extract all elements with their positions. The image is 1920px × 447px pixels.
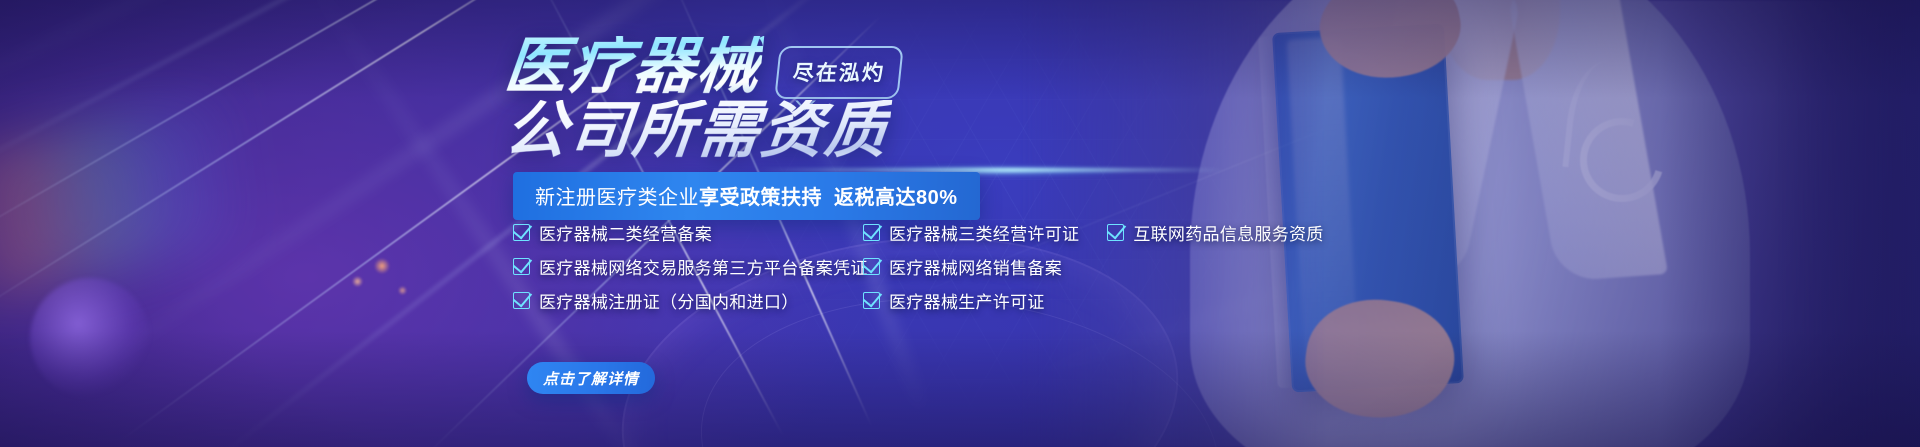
rainbow-glow <box>0 81 293 309</box>
promo-text-part3: 返税高达80% <box>834 187 958 209</box>
checklist-item: 医疗器械网络销售备案 <box>863 254 1358 279</box>
checklist-item-label: 医疗器械三类经营许可证 <box>889 220 1079 245</box>
checkbox-checked-icon <box>513 292 530 309</box>
learn-more-button[interactable]: 点击了解详情 <box>527 362 655 394</box>
checklist-item-label: 医疗器械二类经营备案 <box>539 220 712 245</box>
banner-content: 医疗器械 尽在泓灼 公司所需资质 新注册医疗类企业享受政策扶持返税高达80% 医… <box>505 0 1405 447</box>
orange-spark-3 <box>398 286 407 295</box>
headline-line-1: 医疗器械 <box>502 36 765 98</box>
checklist-item: 医疗器械二类经营备案 <box>513 220 863 245</box>
checklist-item: 医疗器械生产许可证 <box>863 288 1358 313</box>
checkbox-checked-icon <box>513 258 530 275</box>
promo-strip: 新注册医疗类企业享受政策扶持返税高达80% <box>513 172 980 220</box>
checkbox-checked-icon <box>863 258 880 275</box>
headline-row: 医疗器械 尽在泓灼 <box>505 36 901 99</box>
checklist-item: 医疗器械网络交易服务第三方平台备案凭证 <box>513 254 863 279</box>
headline-line-2: 公司所需资质 <box>502 100 893 162</box>
checklist-item-label: 医疗器械网络交易服务第三方平台备案凭证 <box>539 254 868 279</box>
orange-spark-2 <box>352 276 363 287</box>
checklist-item-label: 医疗器械生产许可证 <box>889 288 1045 313</box>
checklist-item-label: 互联网药品信息服务资质 <box>1133 220 1323 245</box>
brand-badge: 尽在泓灼 <box>774 46 904 99</box>
promo-text-part1: 新注册医疗类企业 <box>535 187 699 209</box>
checklist-item-label: 医疗器械网络销售备案 <box>889 254 1062 279</box>
checklist-item-label: 医疗器械注册证（分国内和进口） <box>539 288 799 313</box>
purple-orb <box>30 278 150 398</box>
medical-device-promo-banner: 医疗器械 尽在泓灼 公司所需资质 新注册医疗类企业享受政策扶持返税高达80% 医… <box>0 0 1920 447</box>
qualification-checklist: 医疗器械二类经营备案 医疗器械三类经营许可证 互联网药品信息服务资质 医疗器械网… <box>513 220 1358 313</box>
checkbox-checked-icon <box>863 224 880 241</box>
checklist-item: 医疗器械三类经营许可证 互联网药品信息服务资质 <box>863 220 1324 245</box>
checkbox-checked-icon <box>1107 224 1124 241</box>
promo-text-part2: 享受政策扶持 <box>699 187 822 209</box>
orange-spark-1 <box>374 258 390 274</box>
checklist-item: 医疗器械注册证（分国内和进口） <box>513 288 863 313</box>
checkbox-checked-icon <box>513 224 530 241</box>
checkbox-checked-icon <box>863 292 880 309</box>
